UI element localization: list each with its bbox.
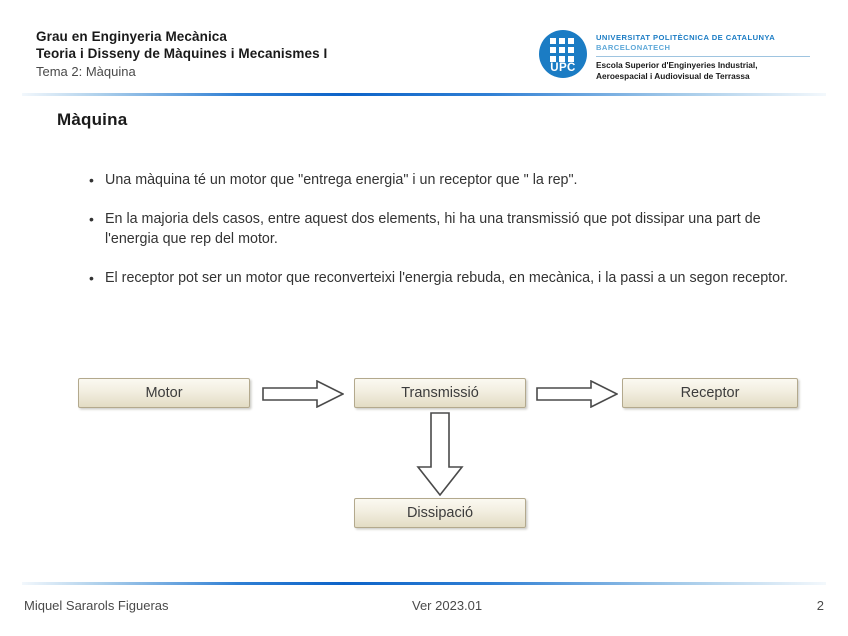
diagram-node-dissipacio: Dissipació [354,498,526,528]
slide-header: Grau en Enginyeria Mecànica Teoria i Dis… [0,0,848,92]
upc-logo-icon: UPC [539,30,587,78]
header-topic: Tema 2: Màquina [36,62,327,81]
upc-logo: UPC UNIVERSITAT POLITÈCNICA DE CATALUNYA… [539,30,810,81]
upc-logo-acronym: UPC [539,62,587,74]
header-course-info: Grau en Enginyeria Mecànica Teoria i Dis… [36,28,327,81]
grid-cell [559,47,565,53]
grid-cell [550,38,556,44]
upc-university-name: UNIVERSITAT POLITÈCNICA DE CATALUNYA [596,33,810,43]
header-subject: Teoria i Disseny de Màquines i Mecanisme… [36,45,327,62]
page-title: Màquina [57,110,127,130]
grid-cell [559,38,565,44]
diagram-node-motor: Motor [78,378,250,408]
grid-cell [568,47,574,53]
upc-school-line1: Escola Superior d'Enginyeries Industrial… [596,60,810,71]
footer-divider [22,582,826,585]
list-item-text: Una màquina té un motor que "entrega ene… [105,170,788,190]
logo-divider [596,56,810,57]
bullet-marker-icon: • [89,170,94,190]
footer-page-number: 2 [817,598,824,613]
slide-footer: Miquel Sararols Figueras Ver 2023.01 2 [0,598,848,628]
upc-logo-text: UNIVERSITAT POLITÈCNICA DE CATALUNYA BAR… [596,30,810,81]
bullet-list: • Una màquina té un motor que "entrega e… [88,170,788,307]
diagram-node-label: Motor [145,385,182,401]
header-course: Grau en Enginyeria Mecànica [36,28,327,45]
diagram-node-transmissio: Transmissió [354,378,526,408]
arrow-right-icon [262,380,344,413]
list-item-text: En la majoria dels casos, entre aquest d… [105,209,788,249]
bullet-marker-icon: • [89,268,94,288]
footer-author: Miquel Sararols Figueras [24,598,169,613]
upc-brand-name: BARCELONATECH [596,43,810,53]
list-item: • El receptor pot ser un motor que recon… [88,268,788,288]
upc-grid-icon [550,38,576,62]
list-item: • Una màquina té un motor que "entrega e… [88,170,788,190]
grid-cell [568,38,574,44]
diagram-node-label: Receptor [681,385,740,401]
diagram-node-label: Transmissió [401,385,479,401]
footer-version: Ver 2023.01 [412,598,482,613]
upc-school-line2: Aeroespacial i Audiovisual de Terrassa [596,71,810,82]
arrow-down-icon [410,412,470,501]
header-divider [22,93,826,96]
bullet-marker-icon: • [89,209,94,229]
energy-flow-diagram: Motor Transmissió Receptor Dissipació [0,370,848,550]
diagram-node-receptor: Receptor [622,378,798,408]
list-item: • En la majoria dels casos, entre aquest… [88,209,788,249]
diagram-node-label: Dissipació [407,505,473,521]
arrow-right-icon [536,380,618,413]
grid-cell [550,47,556,53]
list-item-text: El receptor pot ser un motor que reconve… [105,268,788,288]
